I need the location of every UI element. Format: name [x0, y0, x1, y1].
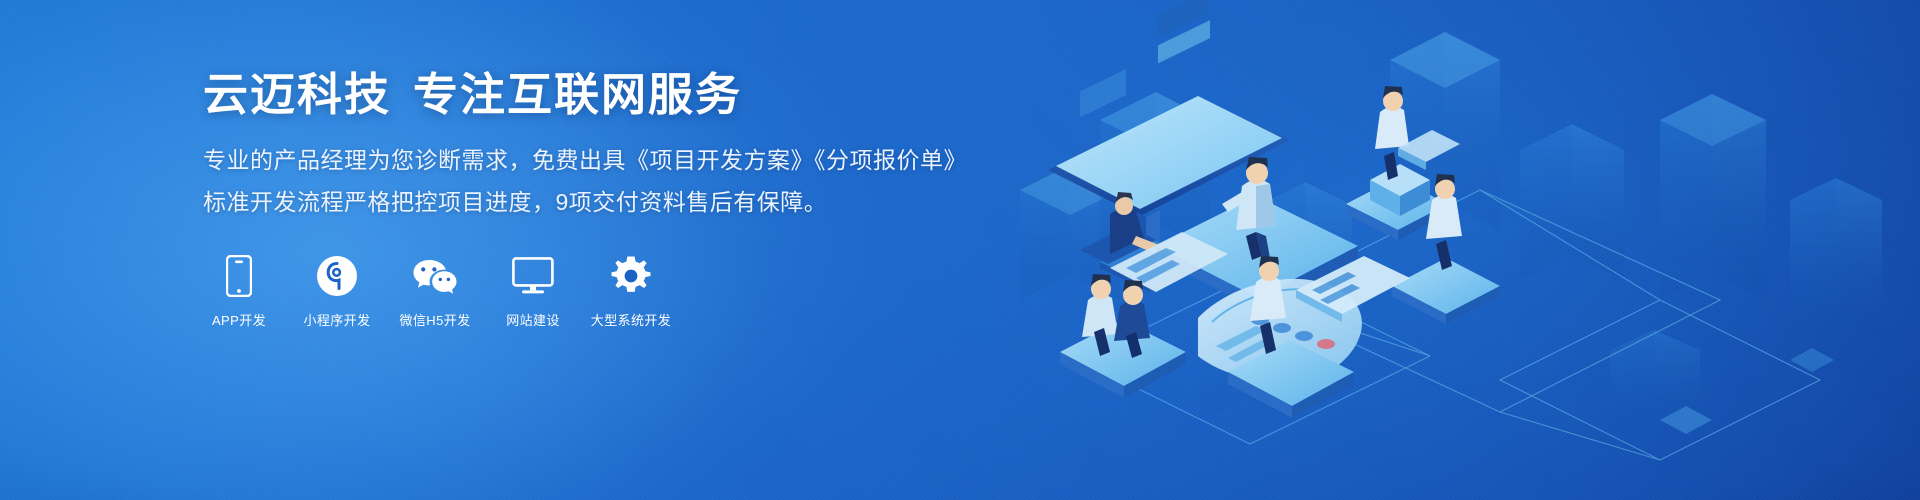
isometric-illustration [960, 0, 1920, 500]
service-item-miniprogram[interactable]: 小程序开发 [301, 254, 373, 329]
service-label-app: APP开发 [212, 310, 266, 329]
service-item-system[interactable]: 大型系统开发 [595, 254, 667, 329]
mobile-phone-icon [226, 254, 252, 298]
mini-program-icon [316, 254, 358, 298]
subtitle-line-2: 标准开发流程严格把控项目进度，9项交付资料售后有保障。 [203, 185, 903, 221]
hero-banner: 云迈科技专注互联网服务 专业的产品经理为您诊断需求，免费出具《项目开发方案》《分… [0, 0, 1920, 500]
wechat-icon [412, 254, 458, 298]
monitor-icon [512, 254, 554, 298]
service-label-wechat: 微信H5开发 [399, 310, 470, 329]
service-item-website[interactable]: 网站建设 [497, 254, 569, 329]
service-icon-row: APP开发 小程序开发 [203, 254, 903, 329]
hero-content: 云迈科技专注互联网服务 专业的产品经理为您诊断需求，免费出具《项目开发方案》《分… [203, 68, 903, 329]
headline-tagline: 专注互联网服务 [413, 69, 742, 120]
service-label-miniprogram: 小程序开发 [303, 310, 370, 329]
service-label-website: 网站建设 [506, 310, 560, 329]
service-label-system: 大型系统开发 [591, 310, 671, 329]
headline-brand: 云迈科技 [203, 69, 391, 120]
gear-icon [610, 254, 652, 298]
page-title: 云迈科技专注互联网服务 [203, 68, 903, 121]
service-item-app[interactable]: APP开发 [203, 254, 275, 329]
subtitle-line-1: 专业的产品经理为您诊断需求，免费出具《项目开发方案》《分项报价单》 [203, 143, 903, 179]
service-item-wechat[interactable]: 微信H5开发 [399, 254, 471, 329]
